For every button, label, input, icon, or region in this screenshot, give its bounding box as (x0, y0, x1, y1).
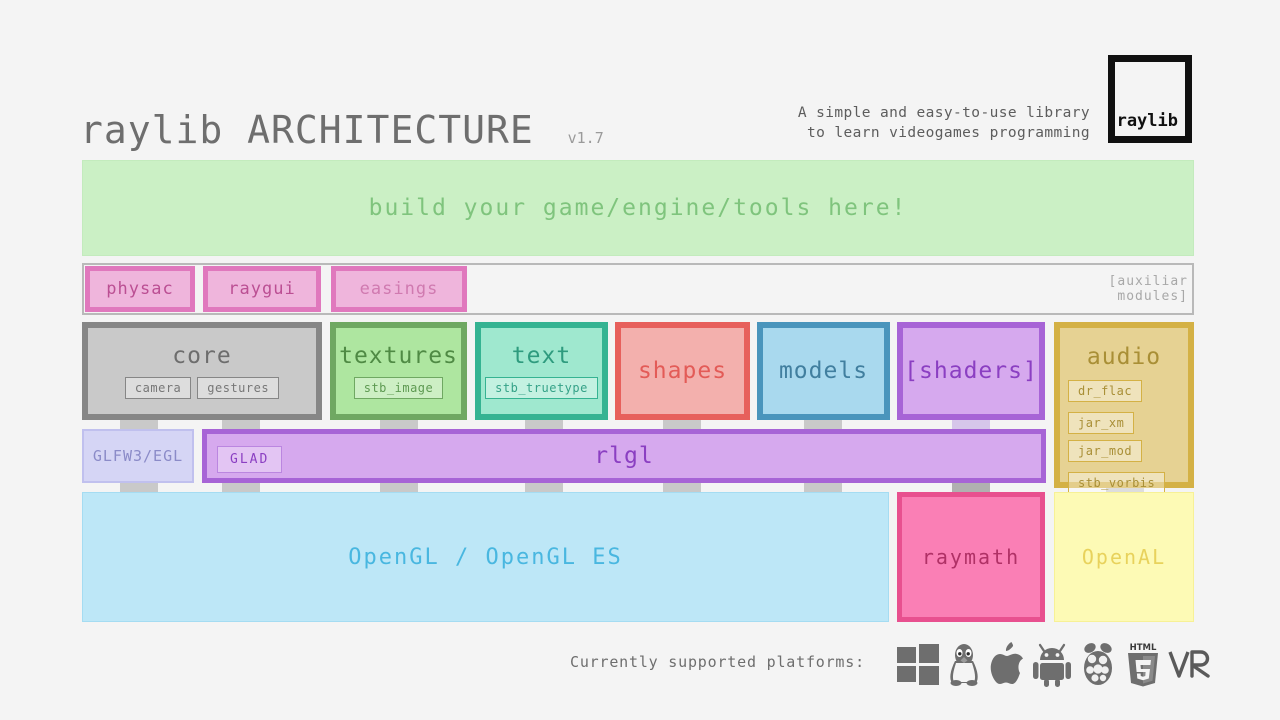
build-here-label: build your game/engine/tools here! (369, 195, 908, 221)
sub-module-camera[interactable]: camera (125, 377, 191, 399)
build-here-band: build your game/engine/tools here! (82, 160, 1194, 256)
sub-module-dr_flac[interactable]: dr_flac (1068, 380, 1142, 402)
sub-module-stb_truetype[interactable]: stb_truetype (485, 377, 598, 399)
module-shaders[interactable]: [shaders] (897, 322, 1045, 420)
shapes-label: shapes (638, 358, 727, 384)
sub-module-row: cameragestures (125, 377, 279, 399)
module-audio[interactable]: audiodr_flacjar_xmjar_modstb_vorbis (1054, 322, 1194, 488)
svg-text:HTML: HTML (1130, 643, 1157, 653)
text-label: text (512, 343, 571, 369)
supported-platforms-label: Currently supported platforms: (570, 653, 865, 671)
architecture-diagram: raylib ARCHITECTURE v1.7 A simple and ea… (0, 0, 1280, 720)
raspberry-pi-icon (1077, 641, 1119, 687)
sub-module-row: dr_flac (1060, 380, 1188, 402)
raymath-label: raymath (922, 545, 1020, 569)
module-raymath[interactable]: raymath (897, 492, 1045, 622)
aux-module-raygui[interactable]: raygui (203, 266, 321, 312)
raylib-logo-text: raylib (1117, 111, 1178, 131)
sub-module-jar_xm[interactable]: jar_xm (1068, 412, 1134, 434)
windows-icon (895, 642, 941, 686)
sub-module-row: stb_truetype (485, 377, 598, 399)
module-opengl[interactable]: OpenGL / OpenGL ES (82, 492, 889, 622)
module-text[interactable]: textstb_truetype (475, 322, 608, 420)
platform-icons: HTML (895, 640, 1211, 688)
title-brand: raylib (80, 108, 223, 152)
tagline-line-2: to learn videogames programming (798, 123, 1090, 143)
module-textures[interactable]: texturesstb_image (330, 322, 467, 420)
android-icon (1032, 641, 1072, 687)
sub-module-gestures[interactable]: gestures (197, 377, 279, 399)
title-version: v1.7 (568, 129, 604, 147)
glfw3-egl-label: GLFW3/EGL (93, 447, 183, 465)
tagline-line-1: A simple and easy-to-use library (798, 103, 1090, 123)
opengl-label: OpenGL / OpenGL ES (348, 545, 622, 570)
sub-module-glad: GLAD (217, 446, 282, 473)
aux-module-label: easings (360, 279, 439, 299)
aux-module-physac[interactable]: physac (85, 266, 195, 312)
sub-module-row: jar_xmjar_mod (1060, 412, 1188, 462)
module-openal[interactable]: OpenAL (1054, 492, 1194, 622)
apple-icon (987, 641, 1027, 687)
rlgl-label: rlgl (594, 443, 653, 469)
sub-module-stb_vorbis[interactable]: stb_vorbis (1068, 472, 1165, 494)
title-architecture: ARCHITECTURE (247, 108, 534, 152)
shaders-label: [shaders] (904, 358, 1038, 384)
models-label: models (779, 358, 868, 384)
aux-module-label: raygui (228, 279, 295, 299)
aux-module-label: physac (106, 279, 173, 299)
sub-module-row: stb_vorbis (1060, 472, 1188, 494)
sub-module-row: stb_image (354, 377, 444, 399)
audio-label: audio (1087, 344, 1161, 370)
textures-label: textures (339, 343, 458, 369)
vr-headset-icon (1167, 642, 1211, 686)
module-rlgl[interactable]: GLAD rlgl (202, 429, 1046, 483)
tagline: A simple and easy-to-use library to lear… (798, 103, 1090, 143)
sub-module-jar_mod[interactable]: jar_mod (1068, 440, 1142, 462)
module-glfw3-egl[interactable]: GLFW3/EGL (82, 429, 194, 483)
linux-tux-icon (946, 641, 982, 687)
sub-module-stb_image[interactable]: stb_image (354, 377, 444, 399)
openal-label: OpenAL (1082, 545, 1166, 569)
core-label: core (172, 343, 231, 369)
page-title: raylib ARCHITECTURE v1.7 (80, 108, 604, 152)
module-shapes[interactable]: shapes (615, 322, 750, 420)
html5-icon: HTML (1124, 641, 1162, 687)
auxiliar-modules-note: [auxiliar modules] (1109, 274, 1188, 304)
module-models[interactable]: models (757, 322, 890, 420)
raylib-logo: raylib (1108, 55, 1192, 143)
module-core[interactable]: corecameragestures (82, 322, 322, 420)
aux-module-easings[interactable]: easings (331, 266, 467, 312)
